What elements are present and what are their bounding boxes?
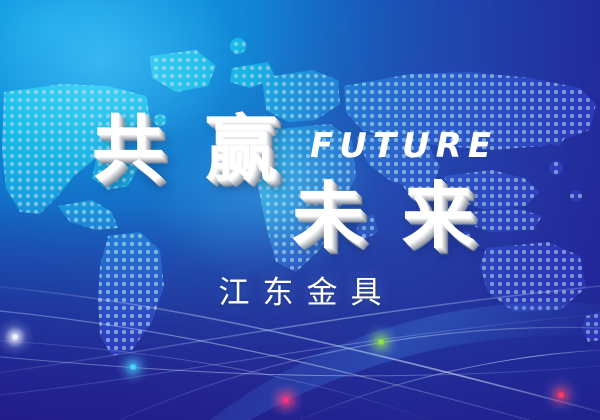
banner-canvas: 共 赢 FUTURE 未 来 江东金具 (0, 0, 600, 420)
vignette-overlay (0, 0, 600, 420)
